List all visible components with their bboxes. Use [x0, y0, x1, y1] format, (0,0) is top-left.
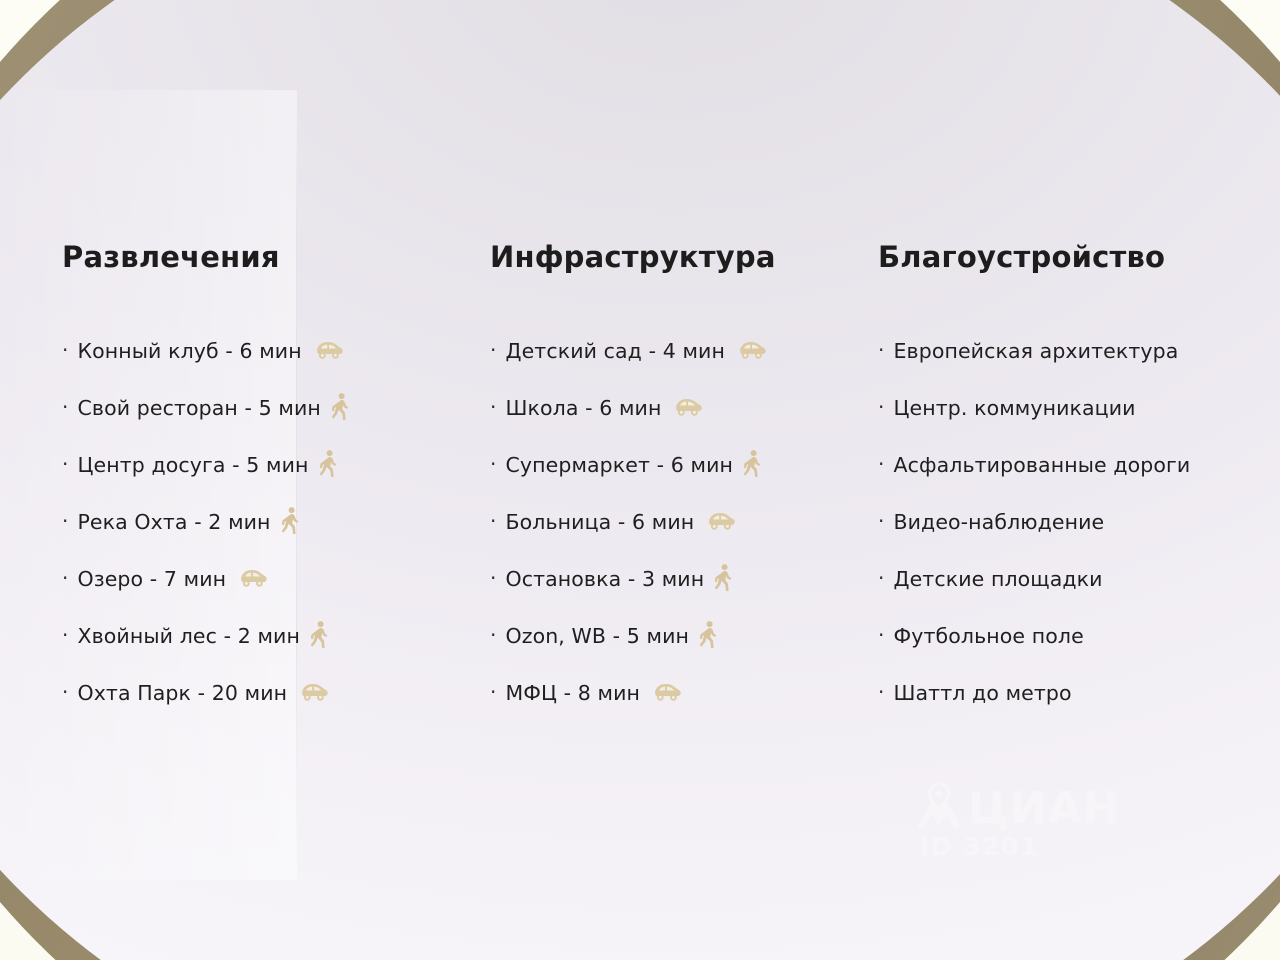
list-item-label: Школа - 6 мин — [505, 396, 661, 420]
car-icon — [313, 339, 343, 360]
pedestrian-icon — [744, 450, 761, 478]
car-icon — [298, 681, 328, 702]
bullet-icon: · — [62, 682, 68, 702]
content-area: Развлечения · Конный клуб - 6 мин · Свой… — [0, 0, 1280, 960]
list-item: · Детский сад - 4 мин — [490, 322, 870, 379]
list-item: · Супермаркет - 6 мин — [490, 436, 870, 493]
list-item-label: Видео-наблюдение — [893, 510, 1104, 534]
list-item: · Центр. коммуникации — [878, 379, 1248, 436]
list-item-label: Река Охта - 2 мин — [77, 510, 270, 534]
pedestrian-icon — [715, 564, 732, 592]
list-item: · Конный клуб - 6 мин — [62, 322, 482, 379]
bullet-icon: · — [490, 625, 496, 645]
list-item: · Хвойный лес - 2 мин — [62, 607, 482, 664]
car-icon — [672, 396, 702, 417]
list-infrastructure: · Детский сад - 4 мин · Школа - 6 мин · … — [490, 322, 870, 721]
list-item-label: Свой ресторан - 5 мин — [77, 396, 320, 420]
bullet-icon: · — [878, 568, 884, 588]
list-item: · Детские площадки — [878, 550, 1248, 607]
list-item-label: Центр досуга - 5 мин — [77, 453, 308, 477]
bullet-icon: · — [878, 511, 884, 531]
list-item-label: Европейская архитектура — [893, 339, 1178, 363]
column-entertainment: Развлечения · Конный клуб - 6 мин · Свой… — [62, 240, 482, 721]
bullet-icon: · — [62, 625, 68, 645]
bullet-icon: · — [490, 511, 496, 531]
list-amenities: · Европейская архитектура · Центр. комму… — [878, 322, 1248, 721]
car-icon — [651, 681, 681, 702]
bullet-icon: · — [878, 682, 884, 702]
list-item-label: Остановка - 3 мин — [505, 567, 704, 591]
pedestrian-icon — [311, 621, 328, 649]
bullet-icon: · — [62, 568, 68, 588]
pedestrian-icon — [332, 393, 349, 421]
column-title-infrastructure: Инфраструктура — [490, 240, 870, 274]
bullet-icon: · — [490, 568, 496, 588]
bullet-icon: · — [62, 454, 68, 474]
list-item: · Асфальтированные дороги — [878, 436, 1248, 493]
list-item: · Свой ресторан - 5 мин — [62, 379, 482, 436]
column-title-amenities: Благоустройство — [878, 240, 1248, 274]
column-amenities: Благоустройство · Европейская архитектур… — [878, 240, 1248, 721]
slide-canvas: Развлечения · Конный клуб - 6 мин · Свой… — [0, 0, 1280, 960]
list-item: · Школа - 6 мин — [490, 379, 870, 436]
bullet-icon: · — [878, 340, 884, 360]
pedestrian-icon — [282, 507, 299, 535]
list-item: · Ozon, WB - 5 мин — [490, 607, 870, 664]
bullet-icon: · — [62, 397, 68, 417]
list-item: · Футбольное поле — [878, 607, 1248, 664]
bullet-icon: · — [490, 397, 496, 417]
car-icon — [705, 510, 735, 531]
bullet-icon: · — [490, 340, 496, 360]
bullet-icon: · — [490, 454, 496, 474]
list-item-label: Больница - 6 мин — [505, 510, 694, 534]
list-item: · Река Охта - 2 мин — [62, 493, 482, 550]
list-item-label: Асфальтированные дороги — [893, 453, 1190, 477]
bullet-icon: · — [878, 625, 884, 645]
pedestrian-icon — [700, 621, 717, 649]
list-item: · Европейская архитектура — [878, 322, 1248, 379]
list-item-label: Детские площадки — [893, 567, 1102, 591]
list-item-label: Центр. коммуникации — [893, 396, 1135, 420]
column-title-entertainment: Развлечения — [62, 240, 482, 274]
list-item: · Остановка - 3 мин — [490, 550, 870, 607]
list-item-label: Охта Парк - 20 мин — [77, 681, 287, 705]
pedestrian-icon — [320, 450, 337, 478]
list-item-label: Ozon, WB - 5 мин — [505, 624, 689, 648]
bullet-icon: · — [490, 682, 496, 702]
list-item-label: Супермаркет - 6 мин — [505, 453, 733, 477]
list-item: · Охта Парк - 20 мин — [62, 664, 482, 721]
list-item-label: Конный клуб - 6 мин — [77, 339, 301, 363]
car-icon — [237, 567, 267, 588]
list-item-label: МФЦ - 8 мин — [505, 681, 640, 705]
list-item-label: Шаттл до метро — [893, 681, 1071, 705]
list-item: · Центр досуга - 5 мин — [62, 436, 482, 493]
bullet-icon: · — [62, 340, 68, 360]
list-item: · Видео-наблюдение — [878, 493, 1248, 550]
list-item-label: Хвойный лес - 2 мин — [77, 624, 300, 648]
bullet-icon: · — [878, 397, 884, 417]
column-infrastructure: Инфраструктура · Детский сад - 4 мин · Ш… — [490, 240, 870, 721]
bullet-icon: · — [878, 454, 884, 474]
list-item: · Больница - 6 мин — [490, 493, 870, 550]
list-item-label: Озеро - 7 мин — [77, 567, 226, 591]
bullet-icon: · — [62, 511, 68, 531]
list-item: · Шаттл до метро — [878, 664, 1248, 721]
list-item-label: Футбольное поле — [893, 624, 1083, 648]
list-item: · Озеро - 7 мин — [62, 550, 482, 607]
list-item-label: Детский сад - 4 мин — [505, 339, 724, 363]
list-item: · МФЦ - 8 мин — [490, 664, 870, 721]
list-entertainment: · Конный клуб - 6 мин · Свой ресторан - … — [62, 322, 482, 721]
car-icon — [736, 339, 766, 360]
